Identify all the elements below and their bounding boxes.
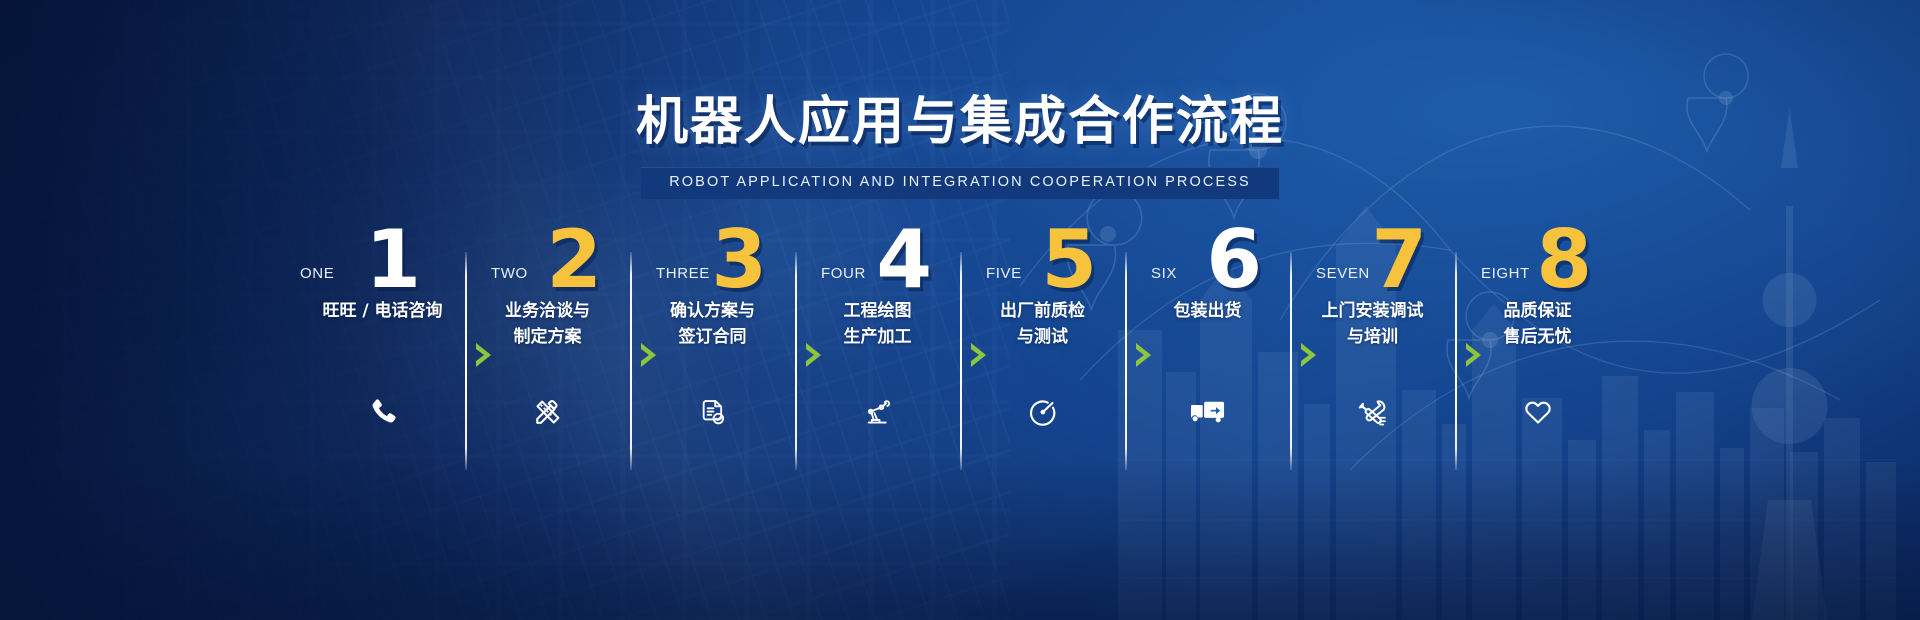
step-label: 确认方案与签订合同 xyxy=(630,298,795,351)
gauge-icon xyxy=(960,390,1125,434)
process-step-8: EIGHT8品质保证售后无忧 xyxy=(1455,246,1620,478)
process-step-4: FOUR4工程绘图生产加工 xyxy=(795,246,960,478)
step-label-line2: 生产加工 xyxy=(809,324,946,350)
process-step-2: TWO2业务洽谈与制定方案 xyxy=(465,246,630,478)
step-divider-line xyxy=(960,252,962,470)
step-number: 6 xyxy=(1206,220,1262,300)
step-label-line2: 签订合同 xyxy=(644,324,781,350)
step-ordinal-label: FOUR xyxy=(821,266,866,281)
step-label-line1: 业务洽谈与 xyxy=(505,301,590,321)
step-label: 业务洽谈与制定方案 xyxy=(465,298,630,351)
phone-icon xyxy=(300,390,465,434)
step-ordinal-label: SIX xyxy=(1151,266,1177,281)
process-step-5: FIVE5出厂前质检与测试 xyxy=(960,246,1125,478)
step-number: 2 xyxy=(546,220,602,300)
step-label: 出厂前质检与测试 xyxy=(960,298,1125,351)
step-label-line1: 旺旺 / 电话咨询 xyxy=(322,301,442,321)
heart-icon xyxy=(1455,390,1620,434)
process-step-6: SIX6包装出货 xyxy=(1125,246,1290,478)
step-label-line2: 与培训 xyxy=(1304,324,1441,350)
step-label-line2: 与测试 xyxy=(974,324,1111,350)
step-label: 上门安装调试与培训 xyxy=(1290,298,1455,351)
wrench-screwdriver-icon xyxy=(1290,390,1455,434)
process-steps: ONE1旺旺 / 电话咨询TWO2业务洽谈与制定方案THREE3确认方案与签订合… xyxy=(300,246,1620,478)
process-step-3: THREE3确认方案与签订合同 xyxy=(630,246,795,478)
document-check-icon xyxy=(630,390,795,434)
step-ordinal-label: THREE xyxy=(656,266,710,281)
chevron-right-icon xyxy=(1133,342,1155,368)
step-label: 工程绘图生产加工 xyxy=(795,298,960,351)
step-divider-line xyxy=(1290,252,1292,470)
step-label: 包装出货 xyxy=(1125,298,1290,324)
step-ordinal-label: ONE xyxy=(300,266,334,281)
step-ordinal-label: EIGHT xyxy=(1481,266,1530,281)
process-step-7: SEVEN7上门安装调试与培训 xyxy=(1290,246,1455,478)
step-label-line2: 售后无忧 xyxy=(1469,324,1606,350)
step-divider-line xyxy=(465,252,467,470)
step-number: 5 xyxy=(1041,220,1097,300)
step-divider-line xyxy=(795,252,797,470)
step-divider-line xyxy=(630,252,632,470)
step-label-line1: 包装出货 xyxy=(1174,301,1242,321)
step-label-line1: 上门安装调试 xyxy=(1322,301,1424,321)
step-label: 旺旺 / 电话咨询 xyxy=(300,298,465,324)
page-title: 机器人应用与集成合作流程 xyxy=(0,96,1920,148)
delivery-truck-icon xyxy=(1125,390,1290,434)
step-divider-line xyxy=(1455,252,1457,470)
subtitle-text: ROBOT APPLICATION AND INTEGRATION COOPER… xyxy=(669,175,1251,190)
banner-header: 机器人应用与集成合作流程 ROBOT APPLICATION AND INTEG… xyxy=(0,96,1920,199)
step-ordinal-label: TWO xyxy=(491,266,528,281)
step-label-line1: 确认方案与 xyxy=(670,301,755,321)
process-step-1: ONE1旺旺 / 电话咨询 xyxy=(300,246,465,478)
step-label-line1: 工程绘图 xyxy=(844,301,912,321)
step-number: 4 xyxy=(876,220,932,300)
step-divider-line xyxy=(1125,252,1127,470)
step-label: 品质保证售后无忧 xyxy=(1455,298,1620,351)
ruler-pencil-icon xyxy=(465,390,630,434)
process-banner: 机器人应用与集成合作流程 ROBOT APPLICATION AND INTEG… xyxy=(0,0,1920,620)
subtitle-bar: ROBOT APPLICATION AND INTEGRATION COOPER… xyxy=(641,167,1279,199)
step-number: 8 xyxy=(1536,220,1592,300)
step-number: 7 xyxy=(1371,220,1427,300)
robot-arm-icon xyxy=(795,390,960,434)
step-number: 1 xyxy=(365,220,421,300)
step-label-line1: 出厂前质检 xyxy=(1000,301,1085,321)
step-ordinal-label: SEVEN xyxy=(1316,266,1370,281)
step-label-line2: 制定方案 xyxy=(479,324,616,350)
step-number: 3 xyxy=(711,220,767,300)
step-ordinal-label: FIVE xyxy=(986,266,1022,281)
step-label-line1: 品质保证 xyxy=(1504,301,1572,321)
